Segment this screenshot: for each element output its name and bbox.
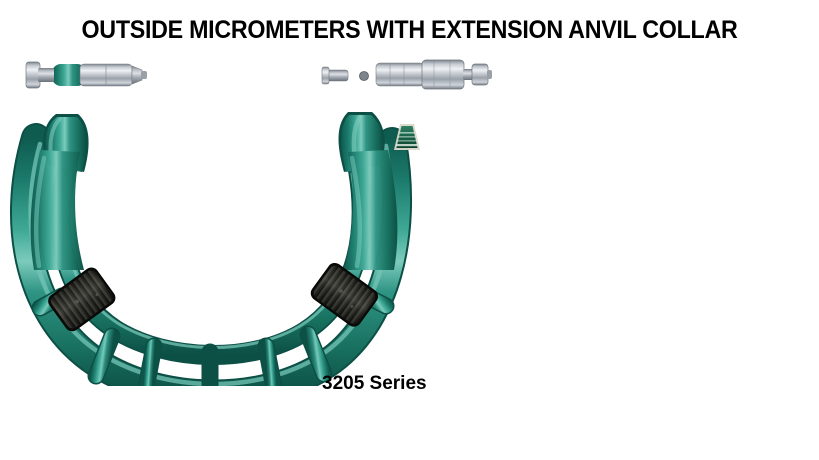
- blank-right-area: [530, 46, 819, 406]
- extension-anvil-collar: [26, 62, 147, 88]
- manufacturer-badge-label: [394, 124, 420, 150]
- micrometer-thimble: [422, 60, 464, 89]
- page-title: OUTSIDE MICROMETERS WITH EXTENSION ANVIL…: [29, 16, 791, 45]
- micrometer-head: [322, 60, 492, 89]
- product-figure: [0, 46, 530, 386]
- frame-body: [25, 112, 397, 386]
- page-root: OUTSIDE MICROMETERS WITH EXTENSION ANVIL…: [0, 0, 819, 460]
- anvil-end-cap: [26, 62, 40, 88]
- ratchet-stop-knob: [472, 64, 488, 85]
- series-caption: 3205 Series: [322, 373, 427, 395]
- micrometer-illustration: [0, 46, 530, 386]
- micrometer-sleeve-barrel: [376, 63, 424, 86]
- inner-arc-shading: [61, 166, 362, 355]
